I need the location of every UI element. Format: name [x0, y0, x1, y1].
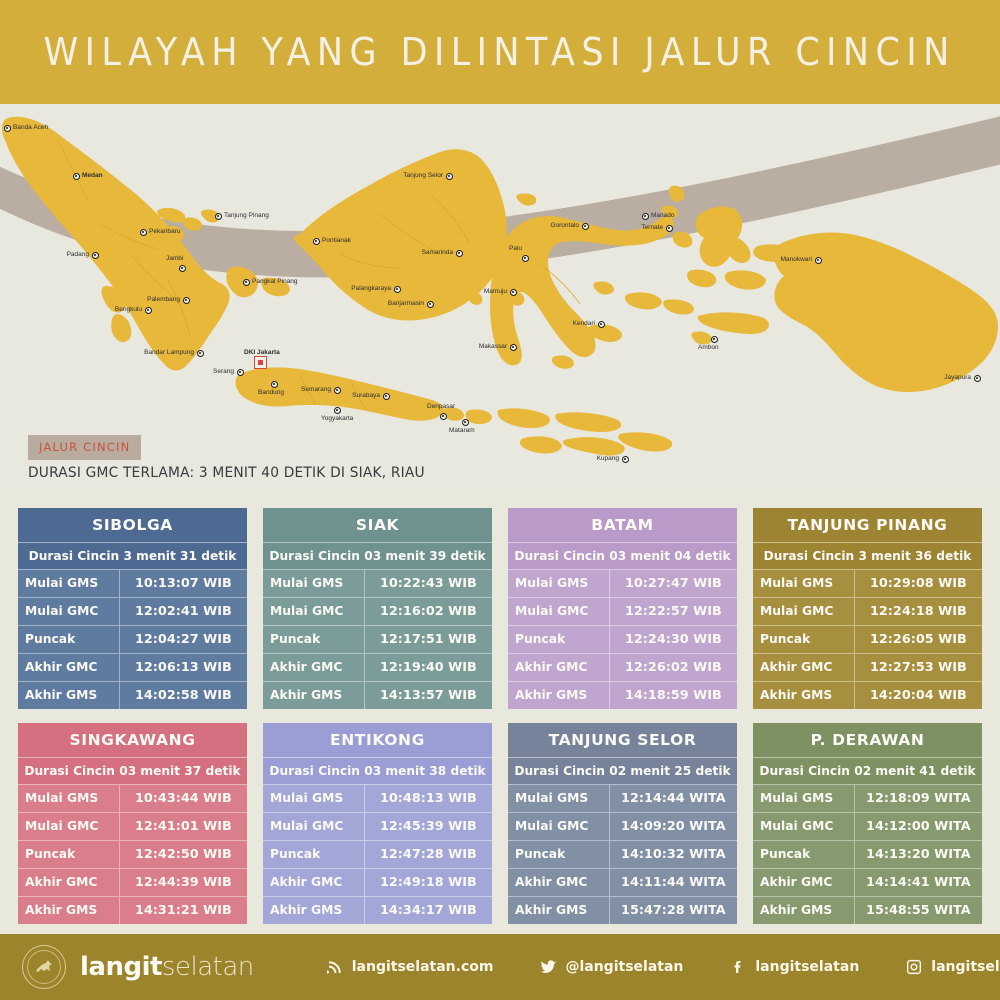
timing-row: Mulai GMS10:13:07 WIB — [18, 570, 247, 597]
timing-row: Mulai GMC12:22:57 WIB — [508, 598, 737, 625]
footer-link-facebook[interactable]: langitselatan — [729, 958, 859, 976]
city-label: Manado — [651, 213, 675, 220]
footer-link-website[interactable]: langitselatan.com — [326, 958, 494, 976]
card-title: SINGKAWANG — [18, 723, 247, 757]
timing-row: Akhir GMS14:13:57 WIB — [263, 682, 492, 709]
timing-row-value: 10:29:08 WIB — [855, 570, 982, 597]
city-marker-icon — [666, 225, 673, 232]
timing-row: Akhir GMC12:06:13 WIB — [18, 654, 247, 681]
timing-row-label: Mulai GMC — [508, 598, 609, 625]
timing-row-label: Akhir GMC — [263, 654, 364, 681]
city-label: Pontianak — [322, 238, 351, 245]
city-marker-icon — [582, 223, 589, 230]
city-label: Yogyakarta — [321, 416, 353, 423]
twitter-label: @langitselatan — [565, 959, 683, 975]
timing-row-value: 12:45:39 WIB — [365, 813, 492, 840]
city-label: Makassar — [479, 344, 507, 351]
instagram-label: langitselatanmedia — [931, 959, 1000, 975]
card-title: ENTIKONG — [263, 723, 492, 757]
card-title: TANJUNG PINANG — [753, 508, 982, 542]
timing-card: TANJUNG PINANGDurasi Cincin 3 menit 36 d… — [753, 508, 982, 709]
timing-row: Akhir GMC12:44:39 WIB — [18, 869, 247, 896]
timing-row-label: Puncak — [753, 626, 854, 653]
city-marker-icon — [622, 456, 629, 463]
timing-row-value: 12:27:53 WIB — [855, 654, 982, 681]
city-marker-icon — [383, 393, 390, 400]
timing-row-value: 12:26:05 WIB — [855, 626, 982, 653]
timing-row-label: Mulai GMC — [508, 813, 609, 840]
timing-row-value: 12:44:39 WIB — [120, 869, 247, 896]
card-duration: Durasi Cincin 3 menit 36 detik — [753, 543, 982, 569]
city-marker-icon — [183, 297, 190, 304]
timing-row-value: 15:47:28 WITA — [610, 897, 737, 924]
timing-row-label: Akhir GMS — [18, 682, 119, 709]
indonesia-map: Banda AcehMedanPekanbaruTanjung PinangPa… — [0, 104, 1000, 492]
timing-row-label: Akhir GMS — [263, 682, 364, 709]
timing-row: Puncak12:26:05 WIB — [753, 626, 982, 653]
timing-row-value: 14:10:32 WITA — [610, 841, 737, 868]
city-label: Banjarmasin — [388, 301, 424, 308]
city-label: Kupang — [597, 456, 619, 463]
timing-row: Akhir GMC14:11:44 WITA — [508, 869, 737, 896]
capital-marker-icon — [254, 356, 267, 369]
timing-row: Mulai GMS10:29:08 WIB — [753, 570, 982, 597]
city-label: Bandar Lampung — [144, 350, 194, 357]
city-label: Surabaya — [352, 393, 380, 400]
timing-row-value: 14:20:04 WIB — [855, 682, 982, 709]
timing-row: Mulai GMC12:24:18 WIB — [753, 598, 982, 625]
timing-row-label: Akhir GMS — [263, 897, 364, 924]
langitselatan-logo-icon — [22, 945, 66, 989]
brand-wordmark: langitselatan — [80, 952, 254, 982]
timing-row-value: 12:02:41 WIB — [120, 598, 247, 625]
timing-row: Akhir GMS15:47:28 WITA — [508, 897, 737, 924]
timing-row-value: 10:48:13 WIB — [365, 785, 492, 812]
horse-rider-glyph — [32, 955, 56, 979]
city-marker-icon — [197, 350, 204, 357]
city-label: Mataram — [449, 428, 475, 435]
timing-row-value: 12:24:30 WIB — [610, 626, 737, 653]
timing-row: Mulai GMS10:43:44 WIB — [18, 785, 247, 812]
timing-card: P. DERAWANDurasi Cincin 02 menit 41 deti… — [753, 723, 982, 924]
timing-row-label: Mulai GMC — [18, 813, 119, 840]
timing-row-label: Mulai GMC — [18, 598, 119, 625]
timing-row-label: Akhir GMC — [18, 654, 119, 681]
city-marker-icon — [215, 213, 222, 220]
card-title: SIBOLGA — [18, 508, 247, 542]
timing-row-label: Mulai GMC — [263, 598, 364, 625]
facebook-icon — [729, 958, 747, 976]
city-marker-icon — [440, 413, 447, 420]
website-label: langitselatan.com — [352, 959, 494, 975]
timing-row-value: 12:04:27 WIB — [120, 626, 247, 653]
card-duration: Durasi Cincin 03 menit 37 detik — [18, 758, 247, 784]
timing-row-value: 10:43:44 WIB — [120, 785, 247, 812]
city-marker-icon — [642, 213, 649, 220]
map-caption: DURASI GMC TERLAMA: 3 MENIT 40 DETIK DI … — [28, 465, 425, 481]
timing-row-value: 15:48:55 WITA — [855, 897, 982, 924]
page-header: WILAYAH YANG DILINTASI JALUR CINCIN — [0, 0, 1000, 104]
timing-row-label: Akhir GMS — [18, 897, 119, 924]
timing-row-label: Akhir GMS — [508, 897, 609, 924]
timing-row: Puncak14:10:32 WITA — [508, 841, 737, 868]
timing-row-value: 12:14:44 WITA — [610, 785, 737, 812]
city-label: Serang — [213, 369, 234, 376]
city-label: Banda Aceh — [13, 125, 48, 132]
timing-row-value: 12:26:02 WIB — [610, 654, 737, 681]
city-label: Mamuju — [484, 289, 507, 296]
city-label: Palembang — [147, 297, 180, 304]
timing-card: ENTIKONGDurasi Cincin 03 menit 38 detikM… — [263, 723, 492, 924]
city-marker-icon — [92, 252, 99, 259]
timing-row: Akhir GMS14:31:21 WIB — [18, 897, 247, 924]
timing-row-label: Mulai GMS — [263, 570, 364, 597]
city-label: Ternate — [641, 225, 663, 232]
infographic-page: WILAYAH YANG DILINTASI JALUR CINCIN — [0, 0, 1000, 1000]
twitter-icon — [539, 958, 557, 976]
timing-row: Puncak14:13:20 WITA — [753, 841, 982, 868]
city-marker-icon — [456, 250, 463, 257]
city-marker-icon — [711, 336, 718, 343]
timing-row-value: 14:12:00 WITA — [855, 813, 982, 840]
timing-card: SIBOLGADurasi Cincin 3 menit 31 detikMul… — [18, 508, 247, 709]
city-label: Jambi — [166, 256, 183, 263]
timing-row-label: Akhir GMC — [753, 869, 854, 896]
timing-row: Akhir GMC12:27:53 WIB — [753, 654, 982, 681]
city-marker-icon — [974, 375, 981, 382]
timing-row-value: 10:13:07 WIB — [120, 570, 247, 597]
instagram-icon — [905, 958, 923, 976]
timing-row: Puncak12:24:30 WIB — [508, 626, 737, 653]
city-label: Padang — [67, 252, 89, 259]
site-footer: langitselatan langitselatan.com @langits… — [0, 934, 1000, 1000]
page-title: WILAYAH YANG DILINTASI JALUR CINCIN — [44, 30, 956, 74]
timing-row: Akhir GMC12:49:18 WIB — [263, 869, 492, 896]
timing-card: BATAMDurasi Cincin 03 menit 04 detikMula… — [508, 508, 737, 709]
timing-row-label: Mulai GMS — [753, 570, 854, 597]
city-timing-grid: SIBOLGADurasi Cincin 3 menit 31 detikMul… — [18, 508, 982, 924]
timing-row: Akhir GMS14:02:58 WIB — [18, 682, 247, 709]
city-label: Pangkal Pinang — [252, 279, 298, 286]
timing-card: SIAKDurasi Cincin 03 menit 39 detikMulai… — [263, 508, 492, 709]
timing-row-value: 12:49:18 WIB — [365, 869, 492, 896]
card-duration: Durasi Cincin 3 menit 31 detik — [18, 543, 247, 569]
timing-row-label: Puncak — [263, 841, 364, 868]
card-duration: Durasi Cincin 03 menit 04 detik — [508, 543, 737, 569]
city-marker-icon — [313, 238, 320, 245]
timing-row-label: Mulai GMS — [18, 570, 119, 597]
timing-row-value: 12:41:01 WIB — [120, 813, 247, 840]
city-label: Manokwari — [781, 257, 812, 264]
timing-row-label: Akhir GMC — [508, 654, 609, 681]
timing-row-value: 14:13:20 WITA — [855, 841, 982, 868]
timing-row: Mulai GMS12:14:44 WITA — [508, 785, 737, 812]
timing-row-label: Mulai GMC — [263, 813, 364, 840]
timing-row-label: Akhir GMS — [508, 682, 609, 709]
brand-bold: langit — [80, 952, 162, 982]
timing-row-label: Akhir GMS — [753, 897, 854, 924]
timing-row-label: Puncak — [18, 626, 119, 653]
timing-row-value: 14:11:44 WITA — [610, 869, 737, 896]
timing-row: Akhir GMC12:26:02 WIB — [508, 654, 737, 681]
timing-row-value: 14:09:20 WITA — [610, 813, 737, 840]
timing-row-value: 12:42:50 WIB — [120, 841, 247, 868]
timing-row: Mulai GMC12:02:41 WIB — [18, 598, 247, 625]
city-marker-icon — [237, 369, 244, 376]
timing-card: TANJUNG SELORDurasi Cincin 02 menit 25 d… — [508, 723, 737, 924]
city-marker-icon — [334, 387, 341, 394]
timing-row-label: Akhir GMC — [753, 654, 854, 681]
timing-row: Akhir GMS14:18:59 WIB — [508, 682, 737, 709]
card-duration: Durasi Cincin 02 menit 41 detik — [753, 758, 982, 784]
timing-row-value: 14:34:17 WIB — [365, 897, 492, 924]
timing-row-label: Puncak — [508, 626, 609, 653]
footer-link-twitter[interactable]: @langitselatan — [539, 958, 683, 976]
timing-row-label: Mulai GMC — [753, 598, 854, 625]
city-marker-icon — [271, 381, 278, 388]
timing-row: Mulai GMC14:12:00 WITA — [753, 813, 982, 840]
timing-row-value: 10:22:43 WIB — [365, 570, 492, 597]
card-title: SIAK — [263, 508, 492, 542]
city-marker-icon — [510, 344, 517, 351]
timing-row-value: 12:19:40 WIB — [365, 654, 492, 681]
card-duration: Durasi Cincin 03 menit 39 detik — [263, 543, 492, 569]
timing-row-label: Mulai GMC — [753, 813, 854, 840]
timing-row: Mulai GMC14:09:20 WITA — [508, 813, 737, 840]
timing-row-value: 14:13:57 WIB — [365, 682, 492, 709]
card-duration: Durasi Cincin 03 menit 38 detik — [263, 758, 492, 784]
timing-row: Puncak12:42:50 WIB — [18, 841, 247, 868]
legend-jalur-cincin: JALUR CINCIN — [28, 435, 141, 460]
city-label: Pekanbaru — [149, 229, 180, 236]
city-label: Semarang — [301, 387, 331, 394]
city-marker-icon — [598, 321, 605, 328]
card-title: P. DERAWAN — [753, 723, 982, 757]
timing-row: Akhir GMC14:14:41 WITA — [753, 869, 982, 896]
city-label: Bandung — [258, 390, 284, 397]
timing-row-value: 12:16:02 WIB — [365, 598, 492, 625]
card-duration: Durasi Cincin 02 menit 25 detik — [508, 758, 737, 784]
city-label: Jayapura — [944, 375, 971, 382]
city-label: Samarinda — [422, 250, 453, 257]
timing-row-label: Mulai GMS — [18, 785, 119, 812]
city-marker-icon — [427, 301, 434, 308]
city-marker-icon — [243, 279, 250, 286]
city-label: Palu — [509, 246, 522, 253]
city-marker-icon — [4, 125, 11, 132]
timing-row-value: 14:18:59 WIB — [610, 682, 737, 709]
city-marker-icon — [179, 265, 186, 272]
city-label: Tanjung Pinang — [224, 213, 269, 220]
city-label: Palangkaraya — [351, 286, 391, 293]
timing-card: SINGKAWANGDurasi Cincin 03 menit 37 deti… — [18, 723, 247, 924]
timing-row-value: 12:06:13 WIB — [120, 654, 247, 681]
timing-row: Puncak12:17:51 WIB — [263, 626, 492, 653]
timing-row: Mulai GMC12:16:02 WIB — [263, 598, 492, 625]
city-marker-icon — [462, 419, 469, 426]
timing-row: Mulai GMS10:48:13 WIB — [263, 785, 492, 812]
timing-row: Mulai GMS10:22:43 WIB — [263, 570, 492, 597]
timing-row-label: Mulai GMS — [508, 570, 609, 597]
city-label: Tanjung Selor — [403, 173, 443, 180]
timing-row-label: Puncak — [18, 841, 119, 868]
timing-row: Puncak12:47:28 WIB — [263, 841, 492, 868]
timing-row-label: Akhir GMC — [263, 869, 364, 896]
city-marker-icon — [334, 407, 341, 414]
timing-row-value: 12:18:09 WITA — [855, 785, 982, 812]
timing-row: Mulai GMC12:45:39 WIB — [263, 813, 492, 840]
brand-light: selatan — [162, 952, 254, 982]
timing-row-value: 12:17:51 WIB — [365, 626, 492, 653]
timing-row-value: 12:24:18 WIB — [855, 598, 982, 625]
timing-row-value: 10:27:47 WIB — [610, 570, 737, 597]
city-marker-icon — [522, 255, 529, 262]
timing-row: Akhir GMS14:20:04 WIB — [753, 682, 982, 709]
city-marker-icon — [394, 286, 401, 293]
timing-row-label: Akhir GMC — [508, 869, 609, 896]
city-label: Kendari — [573, 321, 595, 328]
timing-row-label: Akhir GMC — [18, 869, 119, 896]
city-marker-icon — [446, 173, 453, 180]
city-marker-icon — [510, 289, 517, 296]
city-marker-icon — [73, 173, 80, 180]
rss-icon — [326, 958, 344, 976]
timing-row-label: Mulai GMS — [263, 785, 364, 812]
city-label: Denpasar — [427, 404, 455, 411]
timing-row-value: 14:14:41 WITA — [855, 869, 982, 896]
timing-row-value: 14:31:21 WIB — [120, 897, 247, 924]
timing-row-value: 14:02:58 WIB — [120, 682, 247, 709]
city-label: Medan — [82, 173, 103, 180]
timing-row-label: Mulai GMS — [508, 785, 609, 812]
card-title: TANJUNG SELOR — [508, 723, 737, 757]
timing-row-label: Puncak — [508, 841, 609, 868]
timing-row-label: Mulai GMS — [753, 785, 854, 812]
timing-row: Mulai GMS12:18:09 WITA — [753, 785, 982, 812]
timing-row-label: Puncak — [753, 841, 854, 868]
city-label: Bengkulu — [115, 307, 142, 314]
timing-row-label: Akhir GMS — [753, 682, 854, 709]
timing-row-label: Puncak — [263, 626, 364, 653]
footer-link-instagram[interactable]: langitselatanmedia — [905, 958, 1000, 976]
city-marker-icon — [140, 229, 147, 236]
timing-row: Mulai GMS10:27:47 WIB — [508, 570, 737, 597]
city-label: Ambon — [698, 345, 719, 352]
timing-row: Puncak12:04:27 WIB — [18, 626, 247, 653]
timing-row: Akhir GMS14:34:17 WIB — [263, 897, 492, 924]
timing-row: Akhir GMC12:19:40 WIB — [263, 654, 492, 681]
timing-row: Akhir GMS15:48:55 WITA — [753, 897, 982, 924]
timing-row-value: 12:22:57 WIB — [610, 598, 737, 625]
facebook-label: langitselatan — [755, 959, 859, 975]
timing-row: Mulai GMC12:41:01 WIB — [18, 813, 247, 840]
city-marker-icon — [815, 257, 822, 264]
card-title: BATAM — [508, 508, 737, 542]
timing-row-value: 12:47:28 WIB — [365, 841, 492, 868]
city-marker-icon — [145, 307, 152, 314]
city-label: DKI Jakarta — [244, 350, 280, 357]
city-label: Gorontalo — [550, 223, 579, 230]
